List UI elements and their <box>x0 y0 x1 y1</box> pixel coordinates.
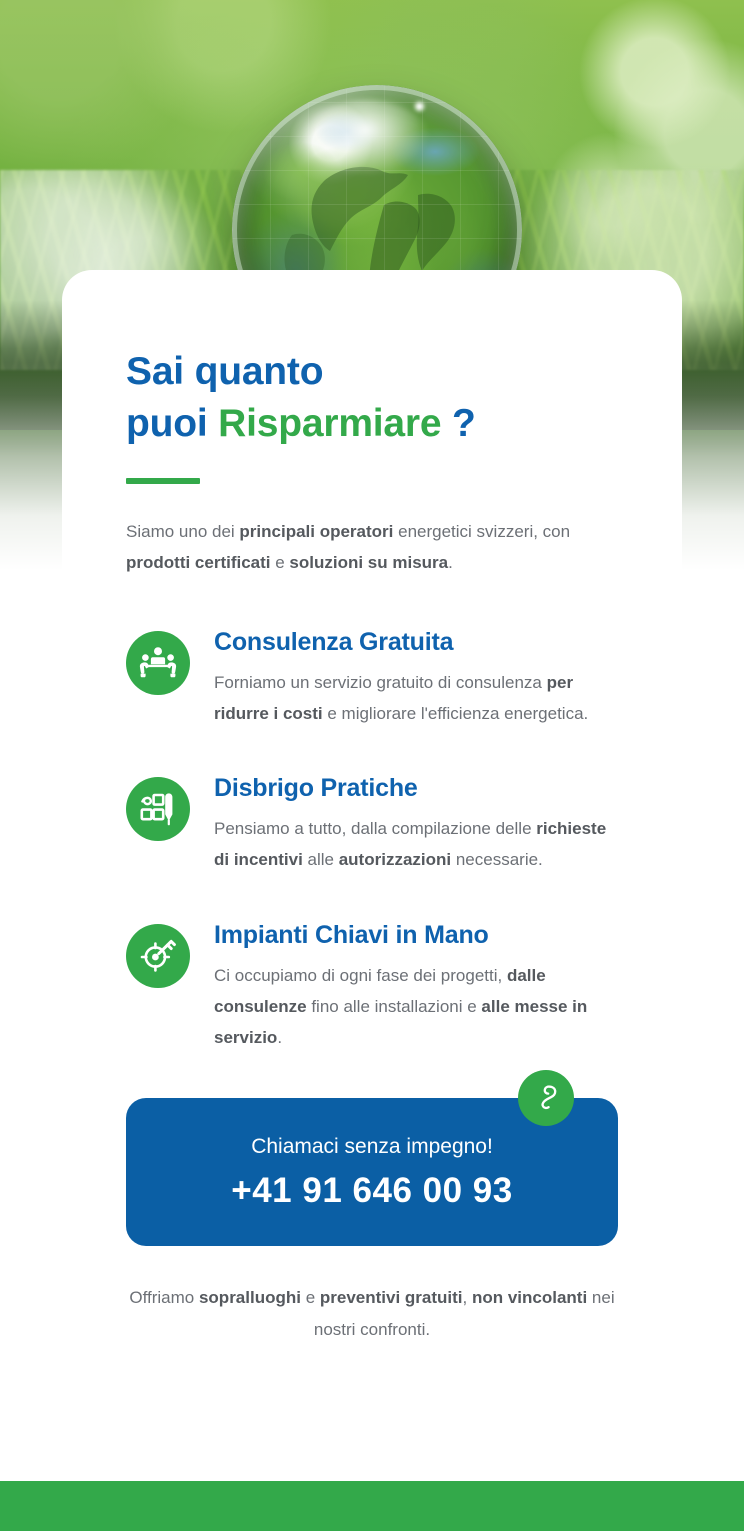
feature-description: Forniamo un servizio gratuito di consule… <box>214 668 618 730</box>
form-checklist-pen-icon <box>126 777 190 841</box>
phone-number[interactable]: +41 91 646 00 93 <box>146 1170 598 1212</box>
feature-text-1: Ci occupiamo di ogni fase dei progetti, <box>214 966 507 985</box>
feature-title: Disbrigo Pratiche <box>214 773 618 803</box>
feature-text-2: fino alle installazioni e <box>307 997 482 1016</box>
feature-description: Ci occupiamo di ogni fase dei progetti, … <box>214 961 618 1054</box>
headline-line-2-prefix: puoi <box>126 402 218 445</box>
outro-text-1: Offriamo <box>129 1288 199 1307</box>
intro-text-1: Siamo uno dei <box>126 522 239 541</box>
call-to-action-section: Chiamaci senza impegno! +41 91 646 00 93 <box>126 1098 618 1246</box>
feature-text-1: Pensiamo a tutto, dalla compilazione del… <box>214 819 536 838</box>
page-title: Sai quanto puoi Risparmiare ? <box>126 270 618 450</box>
feature-text-2: e migliorare l'efficienza energetica. <box>323 704 589 723</box>
headline-question-mark: ? <box>441 402 475 445</box>
feature-text-3: necessarie. <box>451 850 543 869</box>
feature-description: Pensiamo a tutto, dalla compilazione del… <box>214 814 618 876</box>
intro-text-3: e <box>271 553 290 572</box>
feature-body: Impianti Chiavi in Mano Ci occupiamo di … <box>214 920 618 1054</box>
feature-bold-2: autorizzazioni <box>339 850 451 869</box>
headline-line-1: Sai quanto <box>126 350 323 393</box>
key-target-icon <box>126 924 190 988</box>
footer-green-bar <box>0 1481 744 1531</box>
cta-tagline: Chiamaci senza impegno! <box>146 1134 598 1159</box>
phone-handset-icon[interactable] <box>518 1070 574 1126</box>
intro-text-4: . <box>448 553 453 572</box>
features-list: Consulenza Gratuita Forniamo un servizio… <box>126 627 618 1055</box>
intro-bold-2: prodotti certificati <box>126 553 271 572</box>
feature-text-3: . <box>277 1028 282 1047</box>
feature-item: Impianti Chiavi in Mano Ci occupiamo di … <box>126 920 618 1054</box>
feature-item: Disbrigo Pratiche Pensiamo a tutto, dall… <box>126 773 618 876</box>
headline-highlight: Risparmiare <box>218 402 441 445</box>
feature-body: Disbrigo Pratiche Pensiamo a tutto, dall… <box>214 773 618 876</box>
feature-title: Consulenza Gratuita <box>214 627 618 657</box>
content-card: Sai quanto puoi Risparmiare ? Siamo uno … <box>62 270 682 1420</box>
feature-body: Consulenza Gratuita Forniamo un servizio… <box>214 627 618 730</box>
intro-paragraph: Siamo uno dei principali operatori energ… <box>126 517 618 579</box>
intro-bold-1: principali operatori <box>239 522 393 541</box>
outro-text-3: , <box>463 1288 472 1307</box>
outro-bold-2: preventivi gratuiti <box>320 1288 463 1307</box>
outro-paragraph: Offriamo sopralluoghi e preventivi gratu… <box>126 1282 618 1369</box>
outro-bold-3: non vincolanti <box>472 1288 587 1307</box>
intro-text-2: energetici svizzeri, con <box>393 522 570 541</box>
feature-title: Impianti Chiavi in Mano <box>214 920 618 950</box>
meeting-consultation-icon <box>126 631 190 695</box>
outro-text-2: e <box>301 1288 320 1307</box>
feature-text-2: alle <box>303 850 339 869</box>
outro-bold-1: sopralluoghi <box>199 1288 301 1307</box>
intro-bold-3: soluzioni su misura <box>289 553 448 572</box>
feature-item: Consulenza Gratuita Forniamo un servizio… <box>126 627 618 730</box>
title-underline-rule <box>126 478 200 484</box>
feature-text-1: Forniamo un servizio gratuito di consule… <box>214 673 547 692</box>
